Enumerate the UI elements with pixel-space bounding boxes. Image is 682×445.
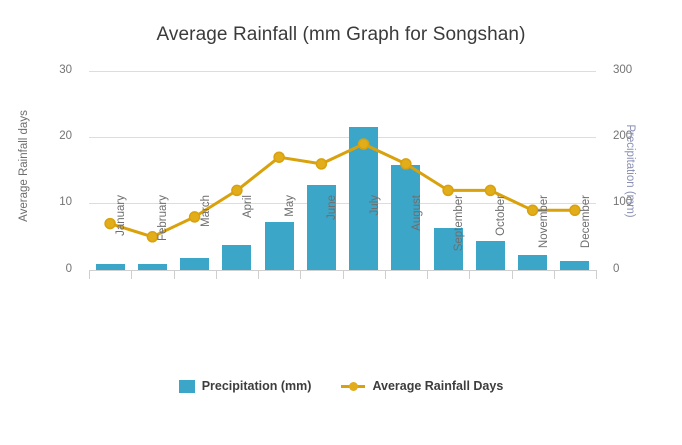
x-axis-label-january: January: [115, 195, 127, 285]
x-axis-label-december: December: [580, 195, 592, 285]
legend-label-precipitation: Precipitation (mm): [202, 379, 312, 393]
x-axis-tick-mark: [427, 270, 428, 279]
chart-legend: Precipitation (mm) Average Rainfall Days: [0, 379, 682, 393]
line-marker-icon: [341, 380, 365, 393]
x-axis-label-may: May: [284, 195, 296, 285]
legend-label-average-rainfall-days: Average Rainfall Days: [372, 379, 503, 393]
x-axis-label-september: September: [453, 195, 465, 285]
y-axis-left-tick-30: 30: [0, 64, 81, 76]
x-axis-tick-mark: [343, 270, 344, 279]
y-axis-left-tick-20: 20: [0, 130, 81, 142]
x-axis-tick-mark: [131, 270, 132, 279]
y-axis-left-tick-10: 10: [0, 196, 81, 208]
y-axis-left-tick-0: 0: [0, 263, 81, 275]
x-axis-label-april: April: [242, 195, 254, 285]
x-axis-tick-mark: [258, 270, 259, 279]
y-axis-right-title: Precipitation (mm): [624, 111, 636, 231]
x-axis-tick-mark: [469, 270, 470, 279]
x-axis-label-october: October: [495, 195, 507, 285]
legend-item-average-rainfall-days[interactable]: Average Rainfall Days: [341, 379, 503, 393]
x-axis-label-july: July: [369, 195, 381, 285]
x-axis-label-august: August: [411, 195, 423, 285]
x-axis-tick-mark: [554, 270, 555, 279]
gridline-30: [89, 71, 596, 72]
x-axis-label-march: March: [200, 195, 212, 285]
x-axis-tick-mark: [89, 270, 90, 279]
x-axis-tick-mark: [174, 270, 175, 279]
y-axis-left-title: Average Rainfall days: [18, 106, 30, 226]
x-axis-tick-mark: [385, 270, 386, 279]
chart-title: Average Rainfall (mm Graph for Songshan): [0, 24, 682, 46]
y-axis-right-tick-0: 0: [604, 263, 619, 275]
x-axis-tick-mark: [596, 270, 597, 279]
x-axis-tick-mark: [512, 270, 513, 279]
x-axis-label-november: November: [538, 195, 550, 285]
gridline-20: [89, 137, 596, 138]
bar-swatch-icon: [179, 380, 195, 393]
y-axis-right-tick-300: 300: [604, 64, 632, 76]
rainfall-chart: Average Rainfall (mm Graph for Songshan)…: [0, 0, 682, 445]
x-axis-tick-mark: [300, 270, 301, 279]
x-axis-tick-mark: [216, 270, 217, 279]
x-axis-label-february: February: [157, 195, 169, 285]
x-axis-label-june: June: [326, 195, 338, 285]
legend-item-precipitation[interactable]: Precipitation (mm): [179, 379, 312, 393]
